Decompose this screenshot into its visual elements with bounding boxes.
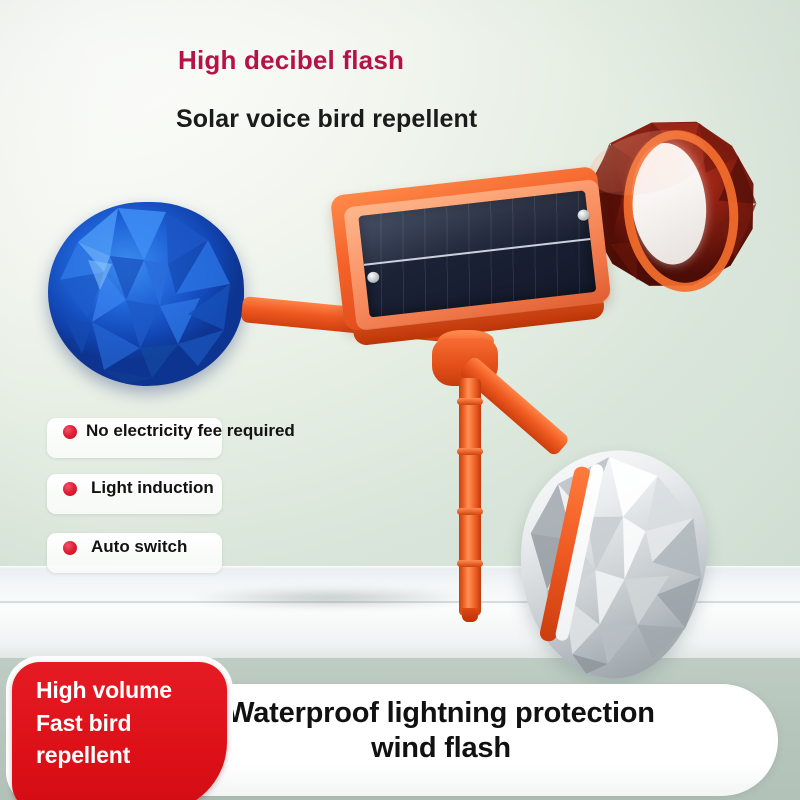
- orange-ground-stake: [459, 378, 481, 616]
- stake-tip: [462, 608, 478, 622]
- blue-faceted-sphere: [48, 202, 244, 386]
- feature-bullet-icon-3: [63, 541, 77, 555]
- product-shadow: [150, 585, 510, 611]
- blue-sphere-facets: [48, 202, 244, 386]
- silver-faceted-gem: [509, 441, 718, 687]
- page-subheadline: Solar voice bird repellent: [176, 105, 477, 134]
- stake-ring-1: [457, 398, 483, 405]
- feature-label-2: Light induction: [91, 478, 214, 498]
- silver-gem-facets: [509, 441, 718, 687]
- feature-label-3: Auto switch: [91, 537, 187, 557]
- feature-bullet-icon-2: [63, 482, 77, 496]
- stake-ring-2: [457, 448, 483, 455]
- tag-line-1: High volume: [36, 674, 222, 707]
- banner-line-1: Waterproof lightning protection: [227, 697, 655, 729]
- product-image-canvas: High decibel flash Solar voice bird repe…: [0, 0, 800, 800]
- tag-line-3: repellent: [36, 739, 222, 772]
- feature-label-1: No electricity fee required: [86, 421, 295, 441]
- red-tag-text: High volume Fast bird repellent: [36, 674, 222, 772]
- feature-bullet-icon-1: [63, 425, 77, 439]
- stake-ring-4: [457, 560, 483, 567]
- tag-line-2: Fast bird: [36, 707, 222, 740]
- page-headline: High decibel flash: [178, 45, 404, 76]
- stake-ring-3: [457, 508, 483, 515]
- panel-housing: [330, 166, 612, 331]
